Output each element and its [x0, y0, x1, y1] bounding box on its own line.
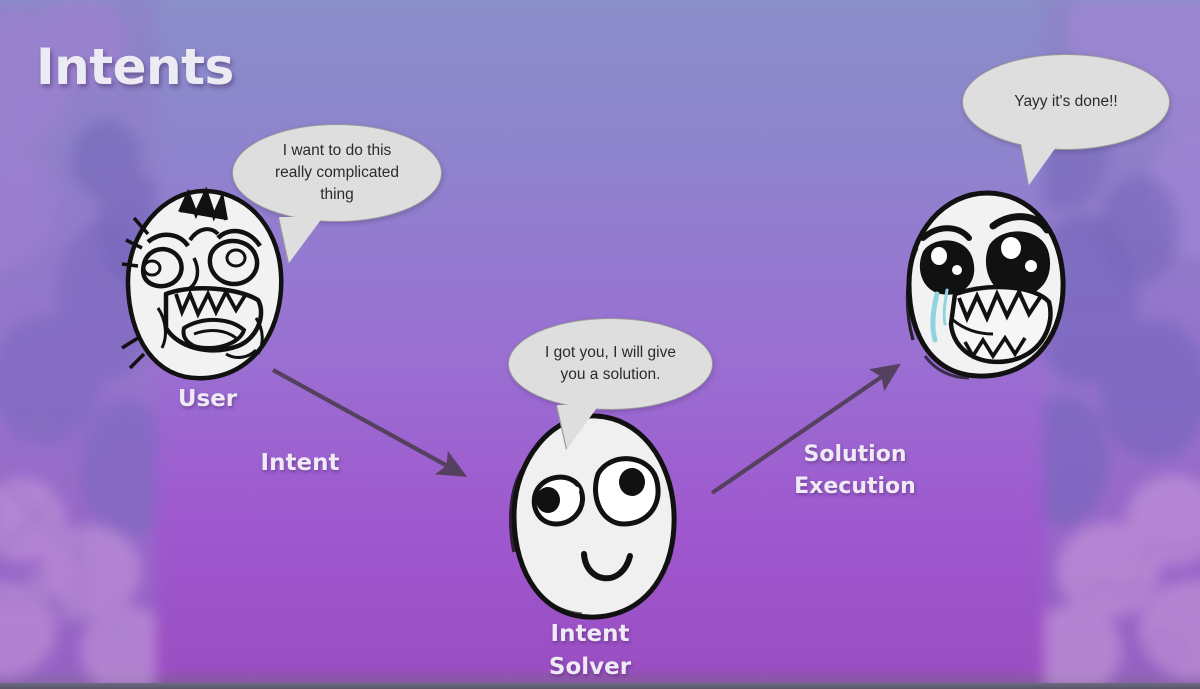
happy-tears-rage-face-icon: [895, 190, 1080, 380]
user-rage-face-icon: [118, 188, 293, 383]
speech-bubble-intent-solver: I got you, I will give you a solution.: [508, 318, 713, 410]
page-title: Intents: [36, 38, 234, 96]
bottom-strip: [0, 683, 1200, 689]
speech-bubble-result-tail: [1021, 143, 1059, 185]
arrow-label-solution-execution: Solution Execution: [770, 439, 940, 503]
speech-bubble-intent-solver-tail: [557, 405, 599, 449]
slide-canvas: Intents Intent Solution Execution: [0, 0, 1200, 689]
speech-bubble-result: Yayy it's done!!: [962, 54, 1170, 150]
node-label-intent-solver: Intent Solver: [520, 618, 660, 685]
speech-bubble-user-text: I want to do this really complicated thi…: [275, 140, 399, 206]
arrow-label-intent: Intent: [235, 447, 365, 480]
speech-bubble-intent-solver-text: I got you, I will give you a solution.: [545, 342, 676, 386]
speech-bubble-result-text: Yayy it's done!!: [1014, 91, 1117, 113]
speech-bubble-user-tail: [279, 217, 323, 263]
node-label-user: User: [150, 383, 265, 416]
speech-bubble-user: I want to do this really complicated thi…: [232, 124, 442, 222]
